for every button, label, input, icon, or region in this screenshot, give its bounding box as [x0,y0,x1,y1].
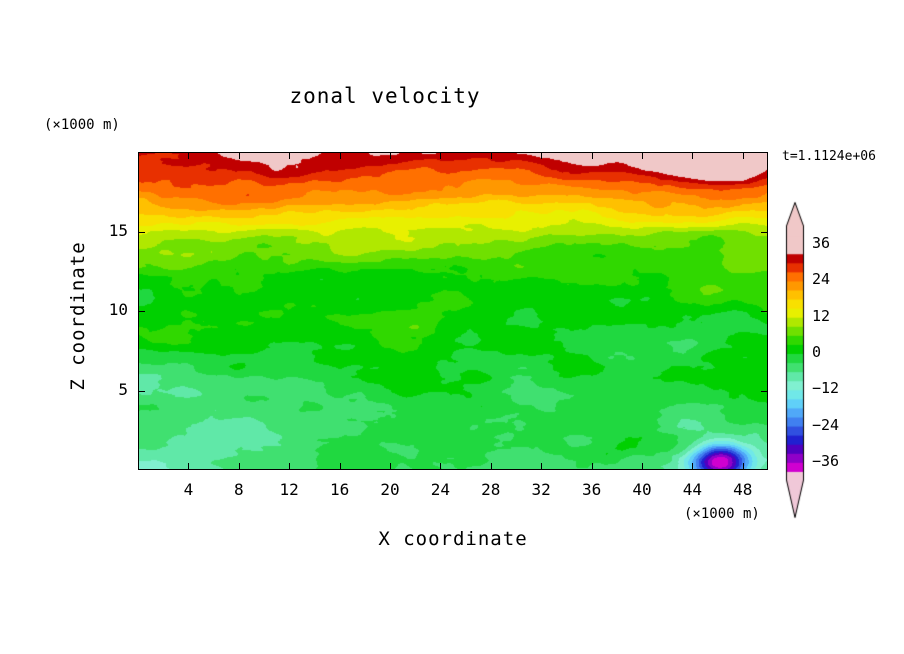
y-axis-units-label: (×1000 m) [44,117,120,133]
x-tick-label: 40 [622,480,662,499]
time-annotation: t=1.1124e+06 [782,149,876,164]
x-tick [390,152,391,159]
x-tick [340,463,341,470]
x-tick-label: 8 [219,480,259,499]
x-tick [743,152,744,159]
colorbar-tick-label: 12 [812,307,830,325]
colorbar-gradient [780,200,810,520]
colorbar-tick-label: −24 [812,416,839,434]
x-tick [592,463,593,470]
y-tick [138,311,145,312]
y-tick [138,232,145,233]
x-tick-label: 16 [320,480,360,499]
x-tick [491,152,492,159]
x-tick [340,152,341,159]
x-tick [642,152,643,159]
y-tick [761,391,768,392]
x-tick [440,152,441,159]
y-tick [761,232,768,233]
y-tick-label: 5 [88,380,128,399]
x-tick-label: 20 [370,480,410,499]
colorbar-tick-label: 36 [812,234,830,252]
x-tick-label: 12 [269,480,309,499]
x-tick [390,463,391,470]
x-tick [239,463,240,470]
x-tick [743,463,744,470]
x-tick [289,152,290,159]
x-tick [692,152,693,159]
x-tick [692,463,693,470]
x-tick [188,463,189,470]
x-axis-label: X coordinate [138,528,768,550]
colorbar-tick-label: 24 [812,270,830,288]
x-tick-label: 4 [168,480,208,499]
y-tick [138,391,145,392]
x-tick-label: 48 [723,480,763,499]
y-tick-label: 15 [88,221,128,240]
y-axis-label: Z coordinate [67,216,89,416]
x-tick [239,152,240,159]
colorbar-tick-label: −36 [812,452,839,470]
colorbar [780,200,810,520]
x-tick-label: 36 [572,480,612,499]
colorbar-tick-labels: 3624120−12−24−36 [812,200,858,520]
x-tick [440,463,441,470]
x-axis-units-label: (×1000 m) [684,506,760,522]
y-tick-label: 10 [88,300,128,319]
contour-plot-area [138,152,768,470]
colorbar-tick-label: 0 [812,343,821,361]
figure: zonal velocity (×1000 m) (×1000 m) Z coo… [0,0,904,654]
x-tick-label: 24 [420,480,460,499]
colorbar-tick-label: −12 [812,379,839,397]
x-tick [541,152,542,159]
x-tick [541,463,542,470]
x-tick-label: 32 [521,480,561,499]
x-tick [188,152,189,159]
chart-title: zonal velocity [0,84,770,108]
x-tick [592,152,593,159]
y-tick [761,311,768,312]
x-tick-label: 28 [471,480,511,499]
contour-field [139,153,767,469]
x-tick-label: 44 [672,480,712,499]
x-tick [289,463,290,470]
x-tick [491,463,492,470]
x-tick [642,463,643,470]
